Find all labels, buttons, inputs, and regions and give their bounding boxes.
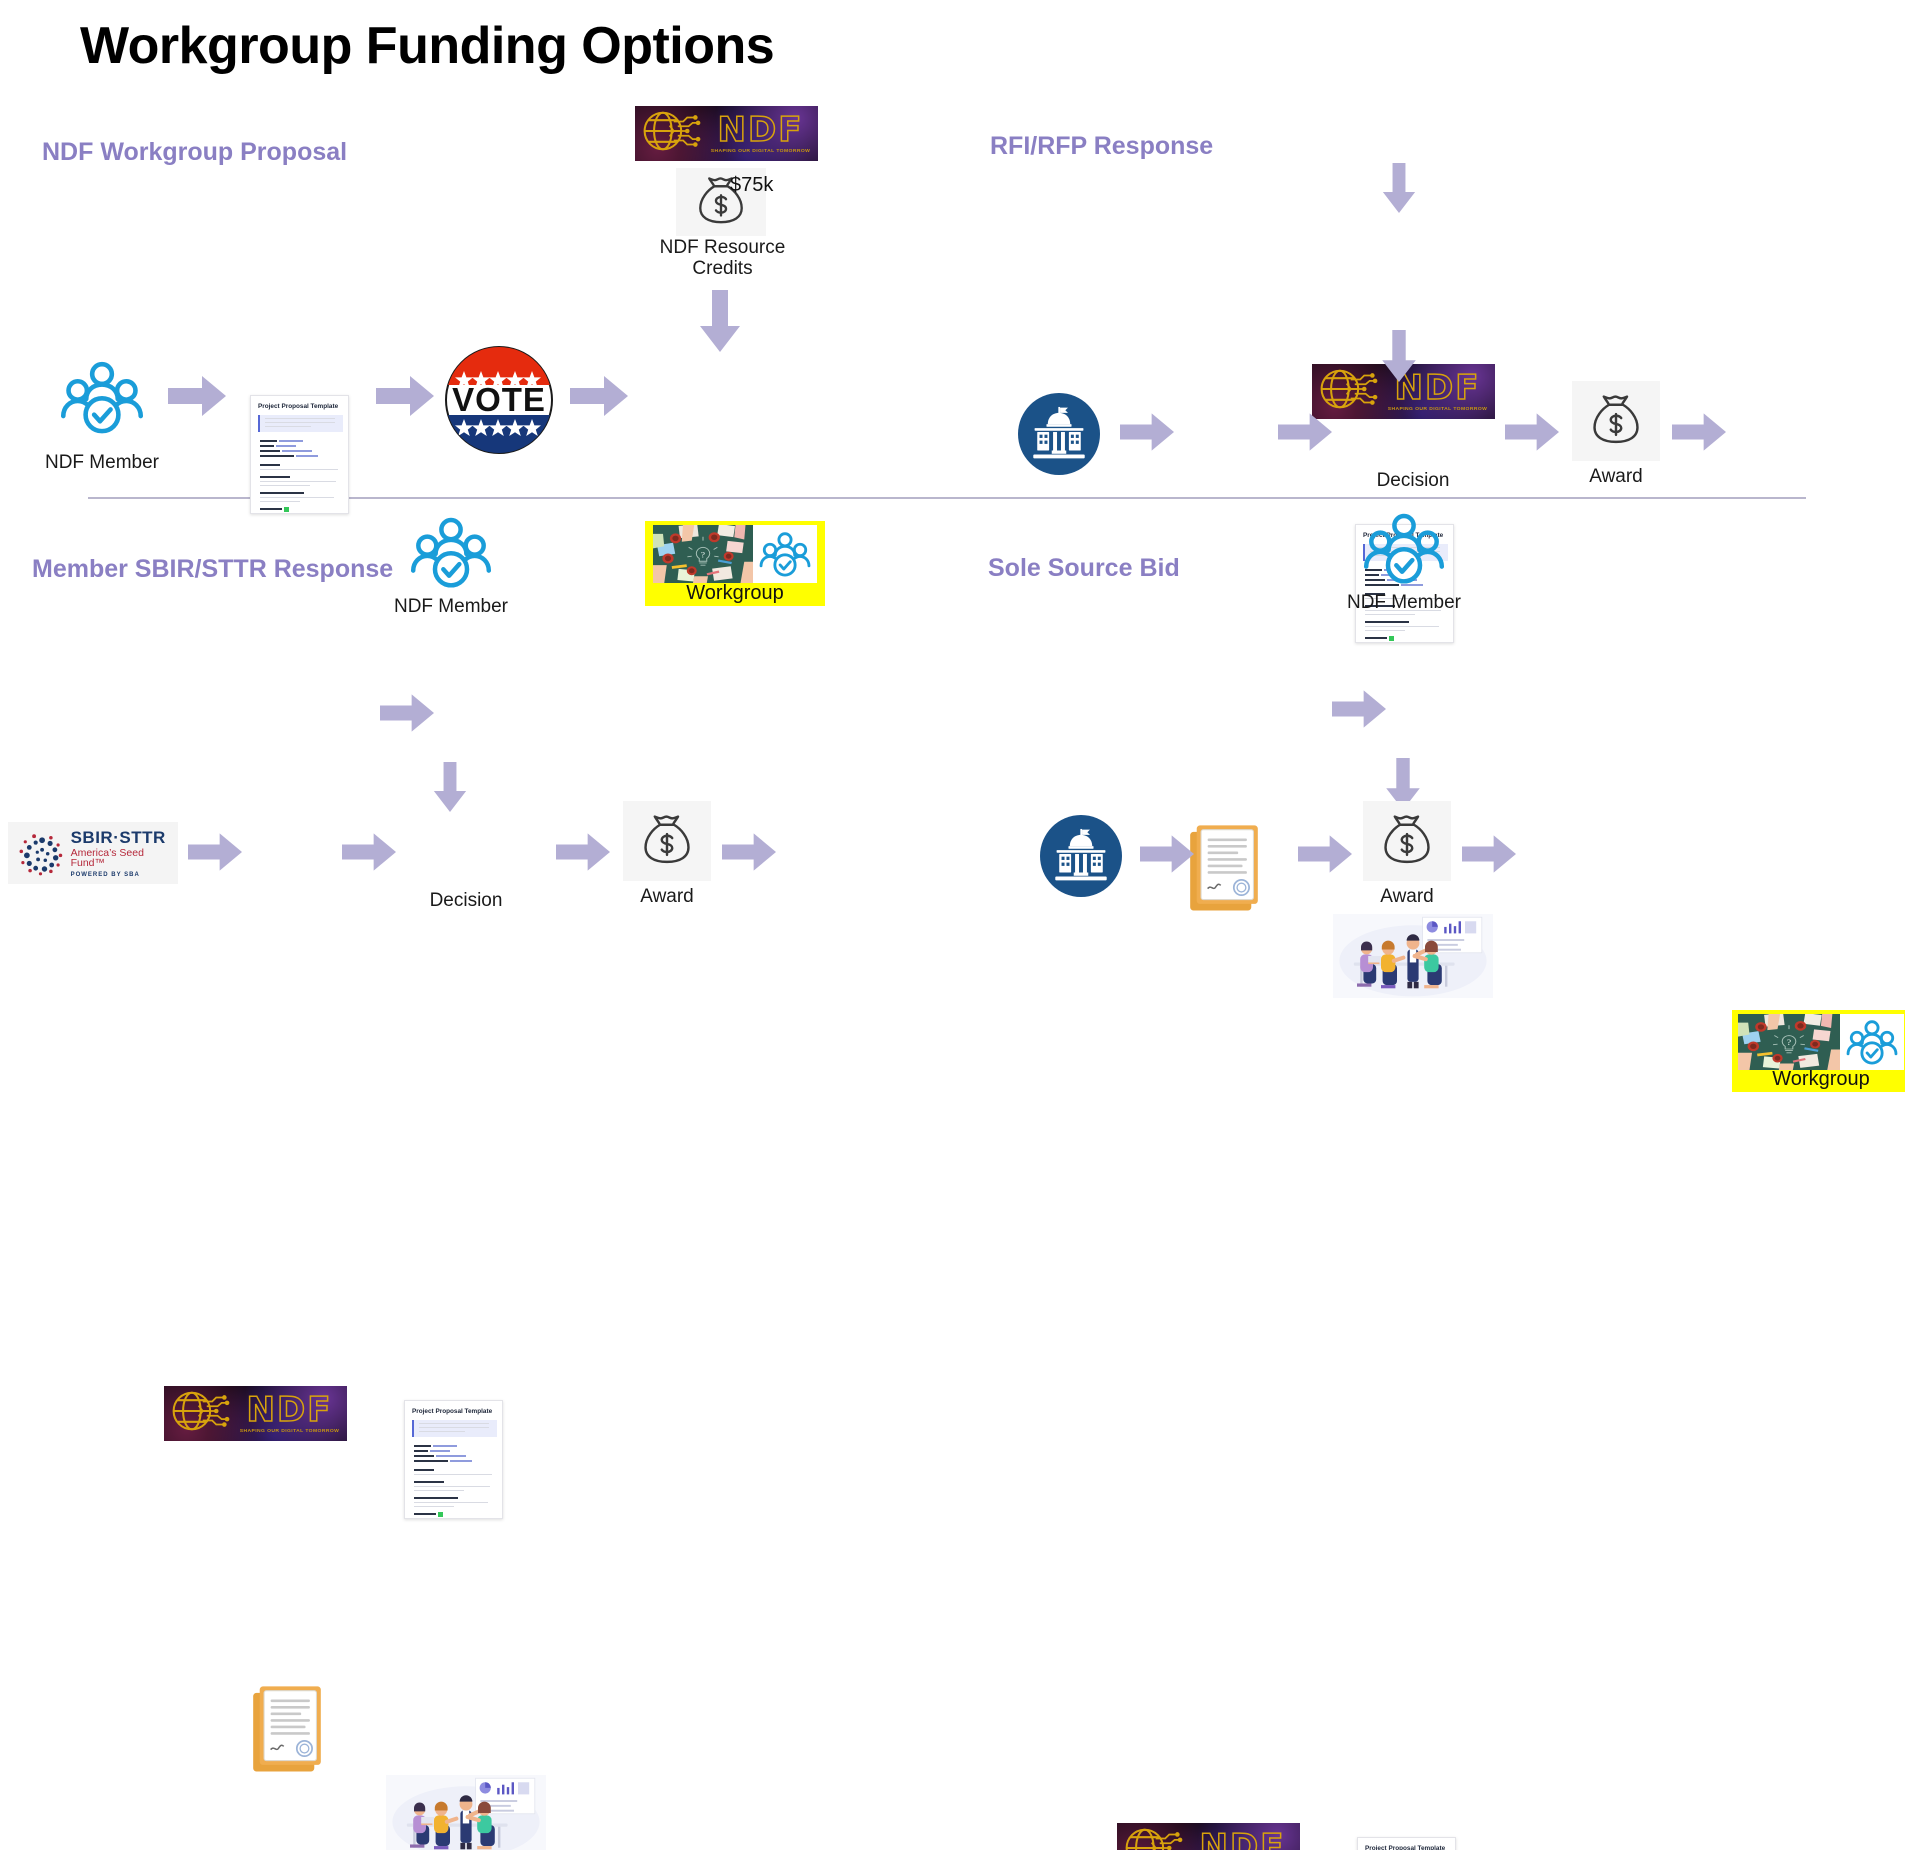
award-money-bag — [623, 801, 711, 881]
ndf-logo-wordmark: NDF — [718, 113, 804, 147]
right-arrow-icon — [722, 833, 776, 871]
ndf-logo-wordmark: NDF — [1200, 1830, 1286, 1850]
proposal-document: Project Proposal Template — [1357, 1837, 1456, 1850]
ndf-logo: NDF SHAPING OUR DIGITAL TOMORROW — [164, 1386, 347, 1441]
ndf-logo: NDF SHAPING OUR DIGITAL TOMORROW — [635, 106, 818, 161]
ndf-logo: NDF SHAPING OUR DIGITAL TOMORROW — [1117, 1823, 1300, 1850]
decision-label: Decision — [386, 890, 546, 911]
ndf-logo-tagline: SHAPING OUR DIGITAL TOMORROW — [1388, 406, 1488, 411]
workgroup-box: Workgroup — [645, 521, 825, 606]
page-title: Workgroup Funding Options — [80, 18, 774, 75]
right-arrow-icon — [168, 376, 226, 416]
ndf-member-icon — [60, 355, 144, 444]
right-arrow-icon — [1298, 835, 1352, 873]
right-arrow-icon — [1505, 413, 1559, 451]
sbir-logo-line2: America’s Seed Fund™ — [71, 848, 178, 869]
ndf-member-icon — [410, 512, 492, 597]
ndf-logo-tagline: SHAPING OUR DIGITAL TOMORROW — [711, 148, 811, 153]
award-label: Award — [1363, 886, 1451, 907]
proposal-document-title: Project Proposal Template — [258, 404, 338, 411]
vote-badge-label: VOTE — [452, 381, 546, 419]
ndf-logo-wordmark: NDF — [247, 1393, 333, 1427]
award-money-bag — [1363, 801, 1451, 881]
government-building-icon — [1018, 393, 1100, 475]
section-title-member-sbir-sttr-response: Member SBIR/STTR Response — [32, 555, 393, 584]
down-arrow-icon — [430, 762, 470, 812]
credits-label: NDF Resource Credits — [650, 237, 795, 280]
proposal-document: Project Proposal Template — [404, 1400, 503, 1519]
award-label: Award — [1572, 466, 1660, 487]
section-title-sole-source-bid: Sole Source Bid — [988, 554, 1180, 583]
right-arrow-icon — [1278, 413, 1332, 451]
credits-amount: $75k — [730, 174, 773, 197]
down-arrow-icon — [1380, 330, 1418, 382]
ndf-member-label: NDF Member — [30, 452, 174, 473]
right-arrow-icon — [1140, 835, 1194, 873]
government-building-icon — [1040, 815, 1122, 897]
section-title-rfi-rfp-response: RFI/RFP Response — [990, 132, 1213, 161]
workgroup-label: Workgroup — [645, 582, 825, 605]
right-arrow-icon — [1672, 413, 1726, 451]
proposal-document-title: Project Proposal Template — [1365, 1846, 1445, 1850]
contract-document-icon — [248, 1682, 1905, 1783]
ndf-member-label: NDF Member — [380, 596, 522, 617]
proposal-document: Project Proposal Template — [250, 395, 349, 514]
ndf-member-icon — [1363, 508, 1445, 593]
sbir-logo-line1: SBIR·STTR — [71, 829, 178, 846]
right-arrow-icon — [380, 694, 434, 732]
right-arrow-icon — [556, 833, 610, 871]
down-arrow-icon — [700, 290, 740, 352]
right-arrow-icon — [1462, 835, 1516, 873]
ndf-logo-tagline: SHAPING OUR DIGITAL TOMORROW — [240, 1428, 340, 1433]
right-arrow-icon — [1120, 413, 1174, 451]
proposal-document-title: Project Proposal Template — [412, 1409, 492, 1416]
sbir-sttr-logo: SBIR·STTR America’s Seed Fund™ POWERED B… — [8, 822, 178, 884]
sbir-logo-line3: POWERED BY SBA — [71, 872, 178, 878]
workgroup-label: Workgroup — [1732, 1068, 1905, 1091]
contract-document-icon — [1185, 821, 1905, 922]
decision-label: Decision — [1333, 470, 1493, 491]
ndf-member-label: NDF Member — [1333, 592, 1475, 613]
right-arrow-icon — [188, 833, 242, 871]
section-title-ndf-workgroup-proposal: NDF Workgroup Proposal — [42, 138, 347, 167]
award-money-bag — [1572, 381, 1660, 461]
right-arrow-icon — [376, 376, 434, 416]
vote-badge[interactable]: VOTE — [444, 345, 554, 460]
right-arrow-icon — [342, 833, 396, 871]
right-arrow-icon — [570, 376, 628, 416]
award-label: Award — [623, 886, 711, 907]
decision-illustration — [1333, 914, 1493, 998]
workgroup-box: Workgroup — [1732, 1010, 1905, 1092]
decision-illustration — [386, 1775, 546, 1850]
right-arrow-icon — [1332, 690, 1386, 728]
down-arrow-icon — [1380, 163, 1418, 213]
